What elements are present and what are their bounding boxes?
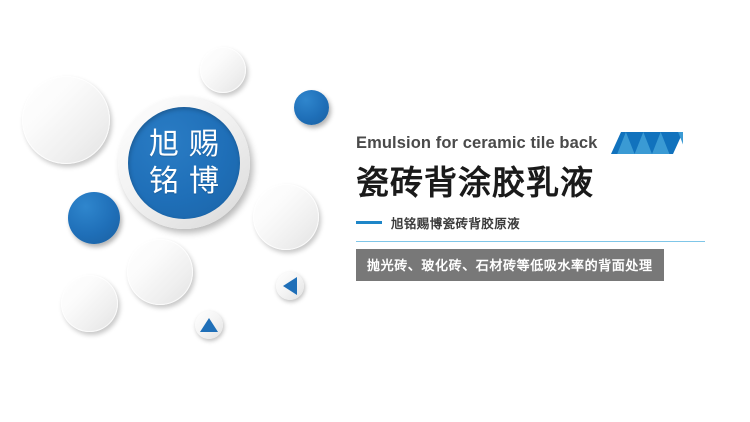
- logo-char-2: 赐: [189, 130, 219, 160]
- logo-char-1: 旭: [149, 130, 179, 160]
- circle-gray-lower-left: [61, 275, 118, 332]
- logo-char-4: 博: [189, 167, 219, 197]
- circle-blue-top-right: [294, 90, 329, 125]
- subtitle-text: 旭铭赐博瓷砖背胶原液: [391, 213, 520, 232]
- circle-blue-mid-left: [68, 192, 120, 244]
- arrow-left-icon: [283, 277, 297, 295]
- logo-char-3: 铭: [149, 167, 179, 197]
- circle-large-upper-left: [22, 76, 110, 164]
- subtitle-row: 旭铭赐博瓷砖背胶原液: [356, 213, 736, 232]
- title-chinese: 瓷砖背涂胶乳液: [356, 164, 736, 203]
- title-block: Emulsion for ceramic tile back 瓷砖背涂胶乳液 旭…: [356, 128, 736, 281]
- subtitle-dash-icon: [356, 221, 382, 224]
- arrow-left-badge[interactable]: [276, 272, 304, 300]
- circle-gray-lower-mid: [127, 239, 193, 305]
- arrow-up-badge[interactable]: [195, 311, 223, 339]
- tagline-bar: 抛光砖、玻化砖、石材砖等低吸水率的背面处理: [356, 249, 664, 281]
- company-logo: 旭 赐 铭 博: [118, 97, 250, 229]
- triangle-band-icon: [611, 132, 683, 154]
- horizontal-divider: [356, 241, 705, 243]
- arrow-up-icon: [200, 318, 218, 332]
- english-title-row: Emulsion for ceramic tile back: [356, 128, 736, 158]
- logo-row-bottom: 铭 博: [149, 167, 219, 197]
- logo-disc: 旭 赐 铭 博: [128, 107, 240, 219]
- logo-row-top: 旭 赐: [149, 130, 219, 160]
- title-english: Emulsion for ceramic tile back: [356, 134, 597, 153]
- circle-gray-mid-right: [253, 184, 319, 250]
- circle-small-top: [200, 47, 246, 93]
- slide-canvas: 旭 赐 铭 博 Emulsion for ceramic tile back: [0, 0, 750, 422]
